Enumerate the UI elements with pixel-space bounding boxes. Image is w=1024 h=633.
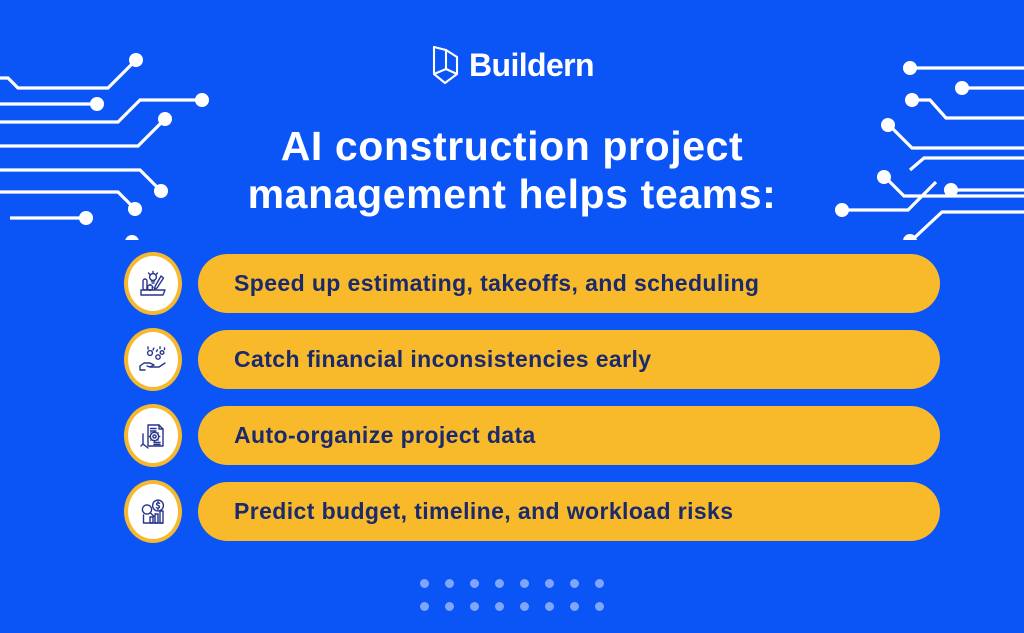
benefit-icon-badge bbox=[124, 404, 182, 467]
benefit-pill[interactable]: Predict budget, timeline, and workload r… bbox=[198, 482, 940, 541]
grid-dot bbox=[520, 579, 529, 588]
benefit-label: Speed up estimating, takeoffs, and sched… bbox=[198, 270, 795, 297]
headline-line-2: management helps teams: bbox=[0, 170, 1024, 218]
grid-dot bbox=[570, 579, 579, 588]
benefit-label: Auto-organize project data bbox=[198, 422, 572, 449]
grid-dot bbox=[470, 602, 479, 611]
benefit-icon-badge bbox=[124, 252, 182, 315]
grid-dot bbox=[545, 602, 554, 611]
benefit-pill[interactable]: Auto-organize project data bbox=[198, 406, 940, 465]
grid-dot bbox=[520, 602, 529, 611]
benefit-pill[interactable]: Catch financial inconsistencies early bbox=[198, 330, 940, 389]
infographic-canvas: Buildern AI construction project managem… bbox=[0, 0, 1024, 633]
hand-holding-data-icon bbox=[137, 344, 169, 376]
grid-dot bbox=[420, 602, 429, 611]
list-item: Auto-organize project data bbox=[124, 404, 940, 467]
grid-dot bbox=[545, 579, 554, 588]
grid-dot bbox=[420, 579, 429, 588]
benefit-label: Predict budget, timeline, and workload r… bbox=[198, 498, 769, 525]
brand-name: Buildern bbox=[469, 49, 594, 81]
blueprint-pencil-lightbulb-icon bbox=[137, 268, 169, 300]
benefit-label: Catch financial inconsistencies early bbox=[198, 346, 687, 373]
benefit-list: Speed up estimating, takeoffs, and sched… bbox=[124, 252, 940, 543]
list-item: Speed up estimating, takeoffs, and sched… bbox=[124, 252, 940, 315]
grid-dot bbox=[445, 579, 454, 588]
hand-document-gear-icon bbox=[137, 420, 169, 452]
grid-dot bbox=[495, 602, 504, 611]
grid-dot bbox=[445, 602, 454, 611]
list-item: Catch financial inconsistencies early bbox=[124, 328, 940, 391]
grid-dot bbox=[570, 602, 579, 611]
magnifier-dollar-barchart-icon bbox=[137, 496, 169, 528]
page-title: AI construction project management helps… bbox=[0, 122, 1024, 219]
benefit-icon-badge bbox=[124, 480, 182, 543]
grid-dot bbox=[595, 602, 604, 611]
buildern-cube-logo-icon bbox=[430, 44, 460, 86]
grid-dot bbox=[495, 579, 504, 588]
dot-grid-icon bbox=[420, 579, 604, 611]
brand-logo: Buildern bbox=[0, 44, 1024, 86]
headline-line-1: AI construction project bbox=[0, 122, 1024, 170]
benefit-pill[interactable]: Speed up estimating, takeoffs, and sched… bbox=[198, 254, 940, 313]
grid-dot bbox=[470, 579, 479, 588]
list-item: Predict budget, timeline, and workload r… bbox=[124, 480, 940, 543]
benefit-icon-badge bbox=[124, 328, 182, 391]
grid-dot bbox=[595, 579, 604, 588]
